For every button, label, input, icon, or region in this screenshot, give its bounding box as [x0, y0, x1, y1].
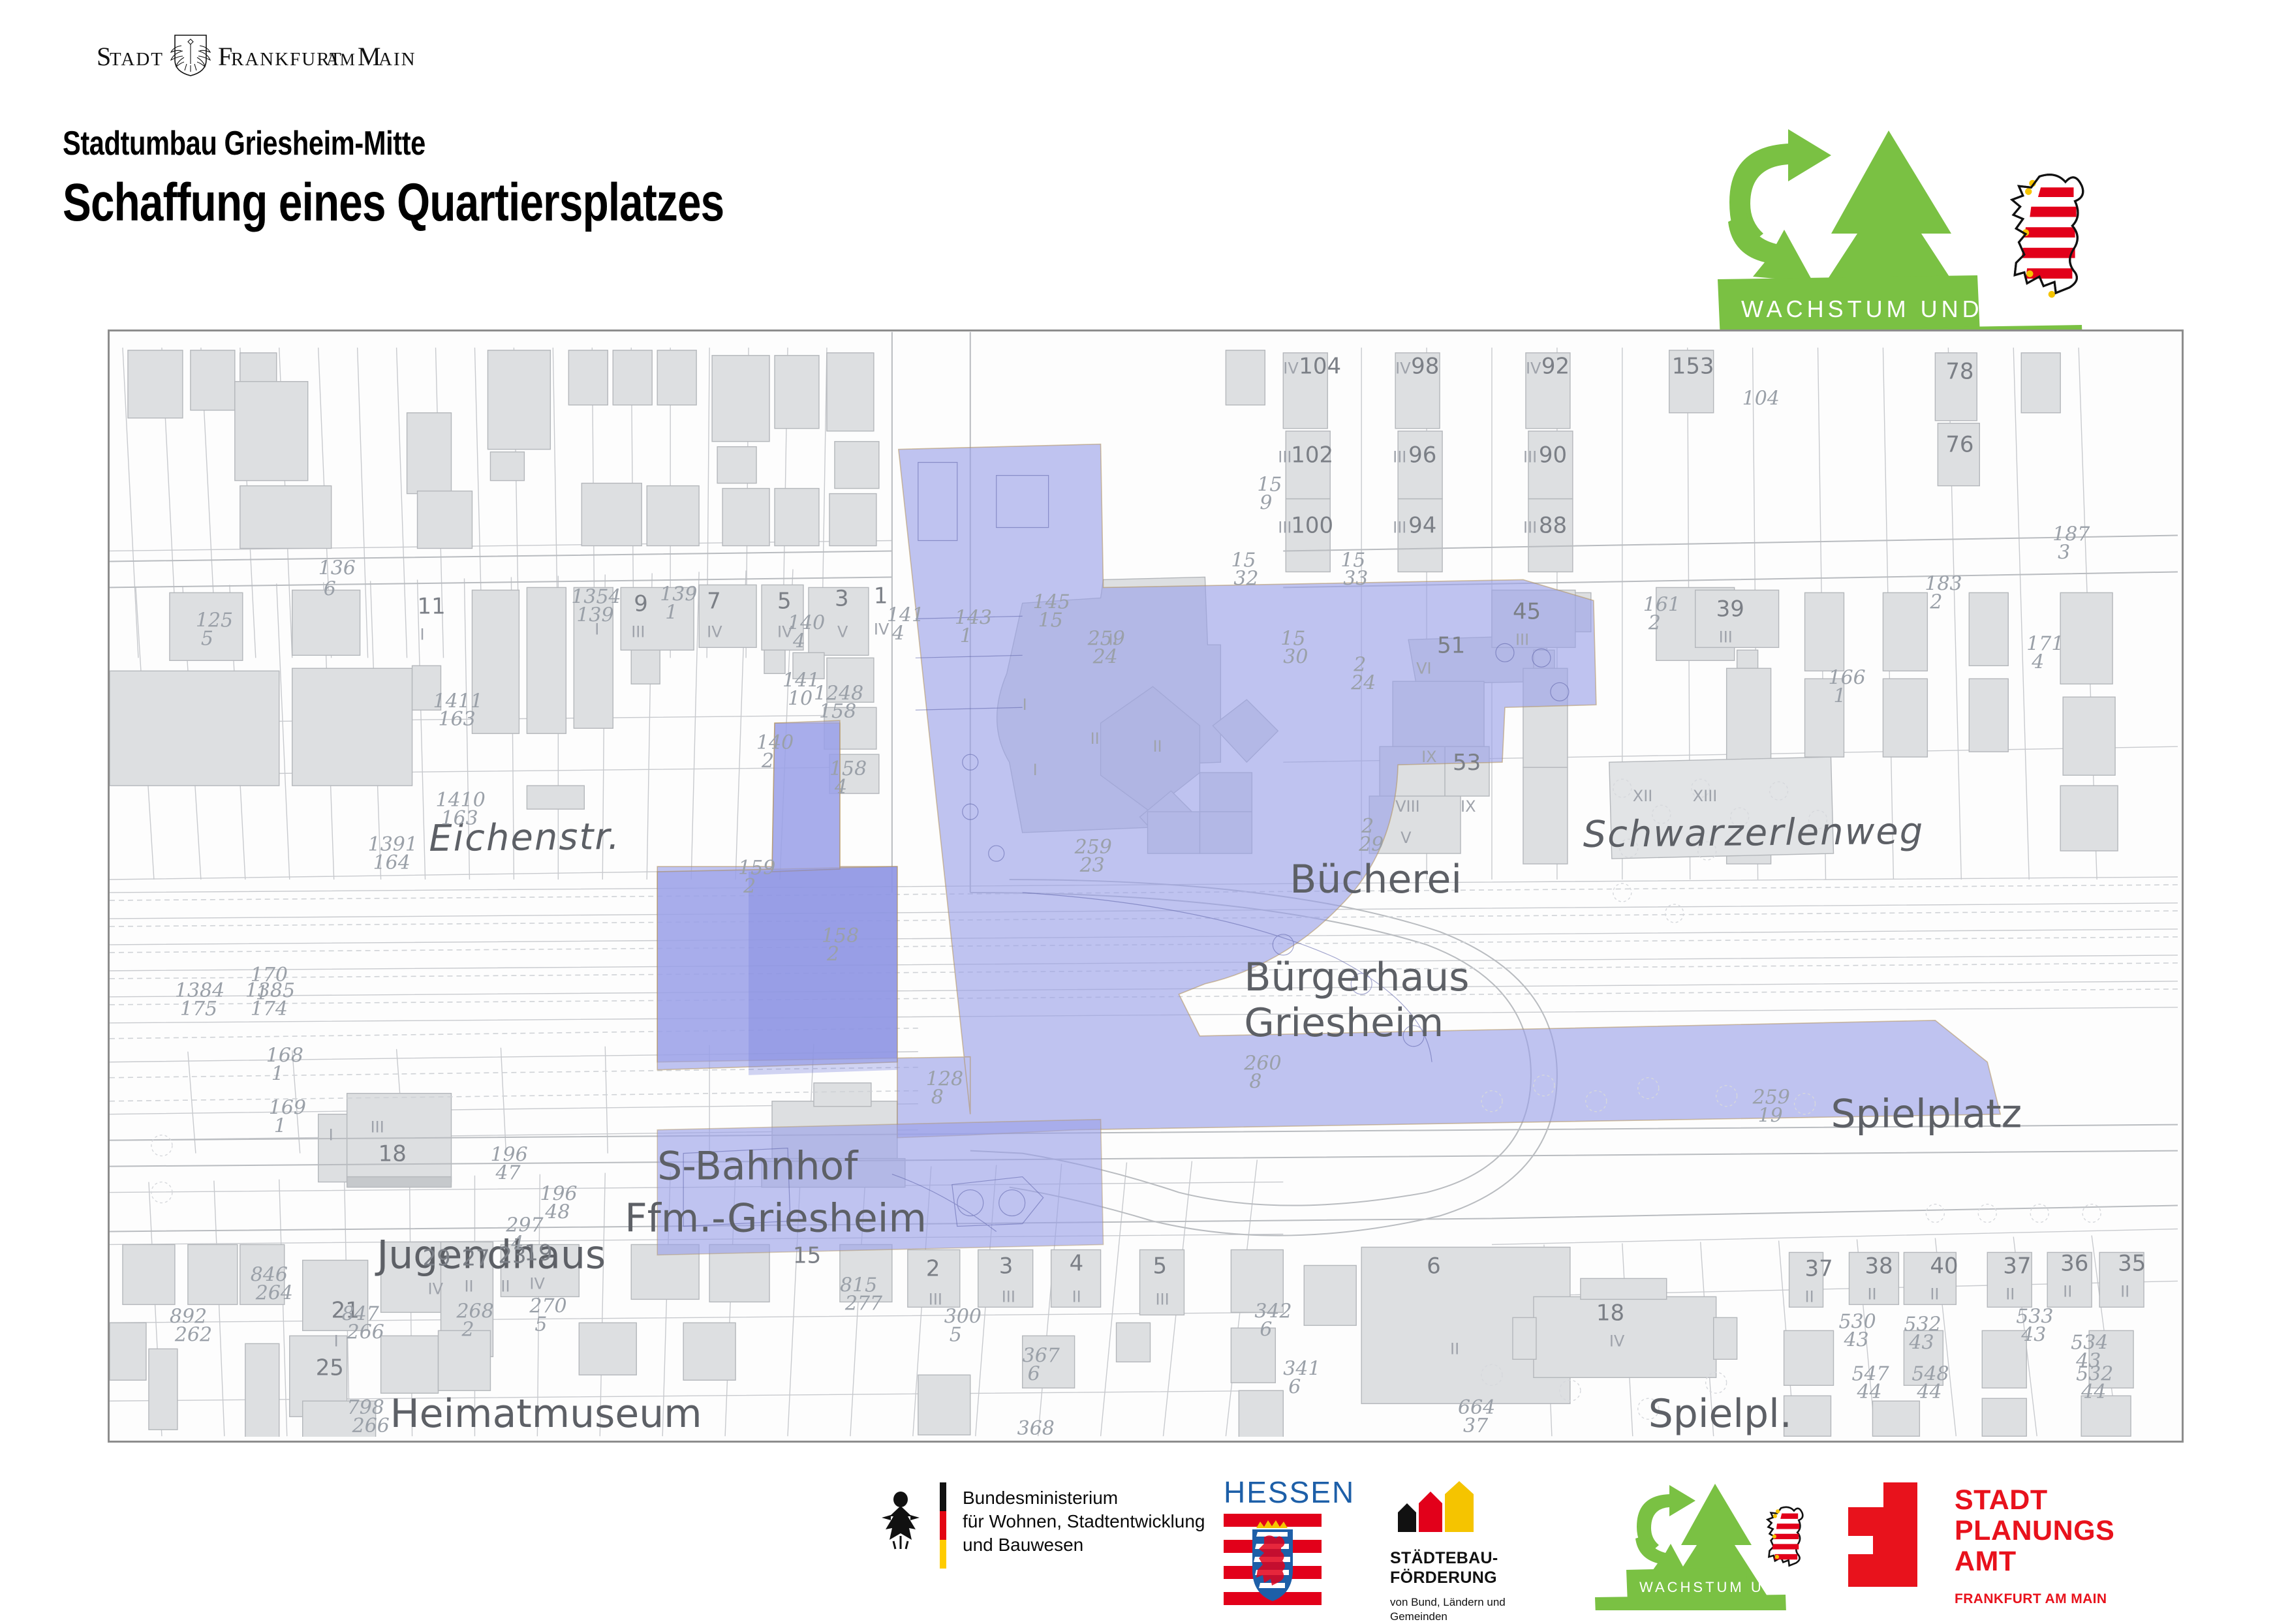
- svg-text:277: 277: [844, 1292, 883, 1315]
- staedtebau-sub1: von Bund, Ländern und: [1390, 1595, 1506, 1610]
- svg-text:IX: IX: [1461, 797, 1476, 816]
- svg-text:158: 158: [819, 700, 856, 723]
- wachstum-footer-logo: WACHSTUM UND NACHHALTIGE ERNEUERUNG STÄD…: [1586, 1480, 1847, 1614]
- svg-text:6: 6: [1427, 1253, 1441, 1279]
- city-logo: S TADT F RANKFURT AM M AIN: [97, 31, 514, 77]
- svg-text:8: 8: [1249, 1071, 1261, 1094]
- svg-text:29: 29: [1358, 833, 1384, 856]
- svg-text:264: 264: [255, 1281, 293, 1304]
- svg-text:4: 4: [1070, 1250, 1084, 1276]
- spa-line3: AMT: [1955, 1546, 2114, 1577]
- svg-text:29: 29: [423, 1245, 451, 1271]
- svg-text:II: II: [1153, 737, 1162, 756]
- svg-text:IV: IV: [1526, 360, 1541, 378]
- bundesadler-icon: [878, 1486, 923, 1552]
- svg-text:III: III: [1155, 1290, 1169, 1308]
- staedtebau-title1: STÄDTEBAU-: [1390, 1548, 1506, 1568]
- hessen-logo: HESSEN: [1224, 1475, 1355, 1608]
- svg-text:IV: IV: [529, 1274, 545, 1293]
- page-subtitle: Stadtumbau Griesheim-Mitte: [63, 124, 724, 163]
- svg-text:5: 5: [534, 1313, 547, 1336]
- title-block: Stadtumbau Griesheim-Mitte Schaffung ein…: [63, 124, 890, 234]
- germany-flag-bar: [940, 1482, 946, 1567]
- svg-text:35: 35: [2118, 1250, 2146, 1276]
- svg-text:VI: VI: [1416, 659, 1431, 677]
- svg-text:262: 262: [174, 1323, 212, 1346]
- svg-text:19: 19: [524, 1240, 552, 1266]
- svg-text:30: 30: [1283, 645, 1308, 668]
- svg-text:II: II: [1072, 1287, 1081, 1306]
- svg-text:2: 2: [743, 875, 756, 898]
- svg-text:175: 175: [180, 998, 217, 1020]
- svg-text:5: 5: [777, 588, 792, 614]
- wachstum-footer-line1: WACHSTUM UND: [1639, 1579, 1790, 1595]
- spa-sub: FRANKFURT AM MAIN: [1955, 1584, 2114, 1614]
- svg-text:88: 88: [1539, 513, 1567, 539]
- street-label-schwarzerlenweg: Schwarzerlenweg: [1583, 810, 1924, 856]
- spa-line2: PLANUNGS: [1955, 1516, 2114, 1546]
- svg-text:100: 100: [1291, 513, 1333, 539]
- svg-text:266: 266: [352, 1415, 390, 1437]
- svg-text:2: 2: [926, 1255, 940, 1281]
- hessen-lion-icon-small: [1767, 1507, 1803, 1566]
- svg-text:78: 78: [1945, 359, 1973, 385]
- svg-text:39: 39: [1716, 596, 1744, 622]
- svg-text:III: III: [1393, 519, 1406, 537]
- svg-text:6: 6: [1288, 1375, 1301, 1398]
- svg-text:44: 44: [1916, 1381, 1942, 1403]
- svg-text:I: I: [1033, 761, 1038, 779]
- svg-text:102: 102: [1291, 442, 1333, 468]
- svg-text:II: II: [464, 1277, 473, 1295]
- svg-text:37: 37: [1463, 1415, 1489, 1437]
- bmwsb-logo: [878, 1486, 923, 1555]
- svg-text:II: II: [1867, 1285, 1876, 1303]
- svg-text:32: 32: [1233, 567, 1258, 590]
- svg-text:RANKFURT: RANKFURT: [231, 49, 343, 70]
- svg-text:IV: IV: [1609, 1332, 1625, 1350]
- stadtplanungsamt-mark-icon: [1834, 1482, 1932, 1587]
- svg-text:VIII: VIII: [1395, 797, 1420, 816]
- svg-text:174: 174: [251, 998, 288, 1020]
- svg-text:V: V: [1400, 829, 1412, 847]
- svg-text:10: 10: [788, 687, 812, 710]
- svg-text:7: 7: [707, 588, 721, 614]
- place-label-jugendhaus: Jugendhaus: [375, 1232, 606, 1278]
- svg-text:47: 47: [495, 1162, 521, 1185]
- svg-text:19: 19: [1758, 1105, 1783, 1127]
- svg-text:37: 37: [2003, 1253, 2031, 1279]
- page-title: Schaffung eines Quartiersplatzes: [63, 172, 724, 234]
- svg-text:AM: AM: [326, 50, 356, 69]
- svg-text:104: 104: [1299, 354, 1341, 380]
- svg-text:2: 2: [826, 943, 839, 966]
- svg-text:II: II: [501, 1277, 510, 1295]
- svg-text:15: 15: [1038, 609, 1063, 632]
- svg-text:III: III: [1278, 519, 1292, 537]
- svg-text:M: M: [358, 42, 381, 71]
- stadtplanungsamt-logo: [1834, 1482, 1932, 1590]
- svg-text:9: 9: [634, 590, 648, 617]
- place-label-griesheim: Griesheim: [1244, 1000, 1444, 1046]
- svg-text:25: 25: [316, 1355, 344, 1381]
- svg-text:43: 43: [2020, 1323, 2046, 1346]
- staedtebaufoerderung-logo: STÄDTEBAU- FÖRDERUNG von Bund, Ländern u…: [1390, 1481, 1506, 1624]
- svg-text:136: 136: [318, 557, 356, 579]
- svg-text:TADT: TADT: [110, 49, 164, 70]
- svg-text:51: 51: [1437, 632, 1465, 658]
- place-label-buergerhaus: Bürgerhaus: [1244, 955, 1469, 1000]
- svg-text:III: III: [371, 1118, 384, 1137]
- svg-text:III: III: [1719, 628, 1733, 646]
- svg-text:3: 3: [835, 585, 849, 611]
- funding-logos-footer: Bundesministerium für Wohnen, Stadtentwi…: [0, 1468, 2290, 1618]
- staedtebau-title: STÄDTEBAU- FÖRDERUNG: [1390, 1548, 1506, 1587]
- svg-text:139: 139: [576, 604, 613, 626]
- svg-text:4: 4: [2031, 651, 2044, 673]
- svg-text:53: 53: [1453, 750, 1481, 776]
- bmwsb-line2: für Wohnen, Stadtentwicklung: [963, 1510, 1205, 1533]
- staedtebau-title2: FÖRDERUNG: [1390, 1568, 1506, 1587]
- svg-text:IV: IV: [428, 1279, 444, 1298]
- place-label-ffm-griesheim: Ffm.-Griesheim: [625, 1195, 927, 1241]
- three-houses-icon: [1390, 1481, 1488, 1533]
- svg-text:15: 15: [793, 1242, 821, 1268]
- svg-text:1: 1: [874, 583, 888, 609]
- svg-text:24: 24: [1350, 671, 1376, 694]
- svg-text:8: 8: [931, 1086, 944, 1109]
- svg-text:AIN: AIN: [379, 49, 416, 70]
- svg-text:1: 1: [960, 624, 972, 647]
- svg-text:43: 43: [1843, 1328, 1868, 1351]
- svg-text:II: II: [2120, 1282, 2129, 1300]
- map-svg[interactable]: Eichenstr. Schwarzerlenweg Am Gemeindega…: [110, 331, 2178, 1437]
- cadastral-map[interactable]: Eichenstr. Schwarzerlenweg Am Gemeindega…: [108, 329, 2184, 1443]
- svg-text:266: 266: [347, 1321, 384, 1343]
- svg-text:5: 5: [201, 627, 213, 650]
- svg-text:96: 96: [1408, 442, 1436, 468]
- wachstum-footer-line2: NACHHALTIGE ERNEUERUNG: [1605, 1608, 1847, 1610]
- svg-text:4: 4: [891, 622, 905, 645]
- svg-text:II: II: [1091, 729, 1100, 748]
- svg-text:3: 3: [999, 1253, 1013, 1279]
- svg-text:IV: IV: [707, 622, 722, 641]
- svg-text:76: 76: [1945, 432, 1973, 458]
- svg-text:92: 92: [1541, 354, 1570, 380]
- wachstum-footer-banner2: NACHHALTIGE ERNEUERUNG: [1595, 1595, 1847, 1610]
- svg-text:163: 163: [439, 708, 476, 731]
- svg-text:23: 23: [1079, 854, 1105, 877]
- wachstum-line1: WACHSTUM UND: [1741, 296, 1983, 322]
- svg-text:9: 9: [1260, 492, 1272, 515]
- svg-text:4: 4: [510, 1232, 523, 1255]
- svg-text:4: 4: [834, 776, 847, 799]
- recycle-arrow-icon: [1728, 129, 1831, 282]
- svg-text:6: 6: [324, 577, 336, 600]
- svg-text:104: 104: [1742, 388, 1780, 410]
- svg-text:II: II: [1805, 1287, 1814, 1306]
- hessen-flag-icon: [1224, 1514, 1322, 1605]
- svg-text:III: III: [1515, 630, 1529, 649]
- svg-text:153: 153: [1672, 354, 1714, 380]
- svg-text:45: 45: [1513, 598, 1541, 624]
- svg-text:18: 18: [379, 1141, 407, 1167]
- hessen-lion-icon: [2012, 175, 2083, 298]
- svg-text:27: 27: [461, 1245, 489, 1271]
- svg-text:1: 1: [274, 1115, 286, 1138]
- svg-text:43: 43: [1908, 1331, 1934, 1354]
- svg-text:III: III: [1278, 448, 1292, 467]
- svg-text:36: 36: [2060, 1250, 2088, 1276]
- staedtebau-sub: von Bund, Ländern und Gemeinden: [1390, 1595, 1506, 1624]
- svg-text:164: 164: [373, 851, 410, 874]
- svg-text:1: 1: [271, 1063, 284, 1086]
- svg-text:III: III: [929, 1290, 942, 1308]
- svg-text:IV: IV: [1395, 360, 1411, 378]
- svg-text:44: 44: [2081, 1381, 2106, 1403]
- svg-text:24: 24: [1092, 645, 1118, 668]
- svg-text:III: III: [1523, 519, 1537, 537]
- svg-text:5: 5: [950, 1323, 962, 1346]
- svg-text:I: I: [420, 625, 425, 643]
- svg-text:2: 2: [1929, 590, 1942, 613]
- svg-text:II: II: [1930, 1285, 1939, 1303]
- svg-text:III: III: [1393, 448, 1406, 467]
- svg-text:98: 98: [1411, 354, 1439, 380]
- svg-text:38: 38: [1864, 1253, 1893, 1279]
- svg-text:163: 163: [441, 807, 478, 830]
- svg-text:368: 368: [1017, 1417, 1055, 1437]
- svg-text:33: 33: [1343, 567, 1368, 590]
- svg-text:XIII: XIII: [1693, 787, 1718, 805]
- svg-text:11: 11: [418, 593, 446, 619]
- hessen-wordmark: HESSEN: [1224, 1475, 1355, 1510]
- spa-line1: STADT: [1955, 1485, 2114, 1516]
- svg-text:1: 1: [1833, 684, 1846, 707]
- svg-text:6: 6: [1028, 1362, 1040, 1385]
- svg-text:3: 3: [2058, 541, 2070, 564]
- svg-text:1: 1: [665, 601, 677, 624]
- svg-text:48: 48: [544, 1201, 570, 1224]
- svg-text:94: 94: [1408, 513, 1436, 539]
- bmwsb-text: Bundesministerium für Wohnen, Stadtentwi…: [963, 1486, 1205, 1557]
- svg-text:4: 4: [792, 630, 805, 652]
- svg-text:6: 6: [1260, 1318, 1272, 1341]
- svg-text:III: III: [631, 622, 645, 641]
- svg-text:2: 2: [761, 750, 774, 773]
- svg-text:III: III: [1523, 448, 1537, 467]
- svg-text:II: II: [1450, 1340, 1459, 1358]
- place-label-spielplatz: Spielplatz: [1831, 1092, 2022, 1137]
- hessen-shield-icon: [1252, 1520, 1293, 1601]
- svg-text:I: I: [334, 1332, 339, 1350]
- svg-text:18: 18: [1596, 1300, 1624, 1326]
- place-label-heimatmuseum: Heimatmuseum: [390, 1391, 702, 1437]
- svg-text:IV: IV: [1283, 360, 1299, 378]
- svg-text:90: 90: [1539, 442, 1567, 468]
- svg-text:I: I: [329, 1126, 333, 1144]
- place-label-s-bahnhof: S-Bahnhof: [657, 1144, 859, 1189]
- svg-text:V: V: [837, 622, 848, 641]
- svg-text:5: 5: [1153, 1253, 1167, 1279]
- place-label-spielpl: Spielpl.: [1648, 1391, 1792, 1437]
- svg-text:I: I: [1023, 696, 1027, 714]
- svg-text:XII: XII: [1633, 787, 1653, 805]
- svg-text:II: II: [2063, 1282, 2072, 1300]
- bmwsb-line3: und Bauwesen: [963, 1533, 1205, 1557]
- svg-text:III: III: [1002, 1287, 1015, 1306]
- staedtebau-sub2: Gemeinden: [1390, 1610, 1506, 1624]
- bmwsb-line1: Bundesministerium: [963, 1486, 1205, 1510]
- svg-text:44: 44: [1856, 1381, 1881, 1403]
- svg-text:F: F: [218, 42, 232, 71]
- stadtplanungsamt-text: STADT PLANUNGS AMT FRANKFURT AM MAIN: [1955, 1485, 2114, 1614]
- svg-text:2: 2: [1648, 611, 1661, 634]
- place-label-buecherei: Bücherei: [1290, 857, 1462, 902]
- svg-text:40: 40: [1930, 1253, 1958, 1279]
- svg-text:37: 37: [1805, 1255, 1833, 1281]
- svg-text:II: II: [2005, 1285, 2015, 1303]
- frankfurt-eagle-icon: [171, 35, 210, 76]
- svg-text:2: 2: [461, 1318, 474, 1341]
- city-logo-svg: S TADT F RANKFURT AM M AIN: [97, 31, 514, 77]
- svg-text:IX: IX: [1421, 748, 1437, 766]
